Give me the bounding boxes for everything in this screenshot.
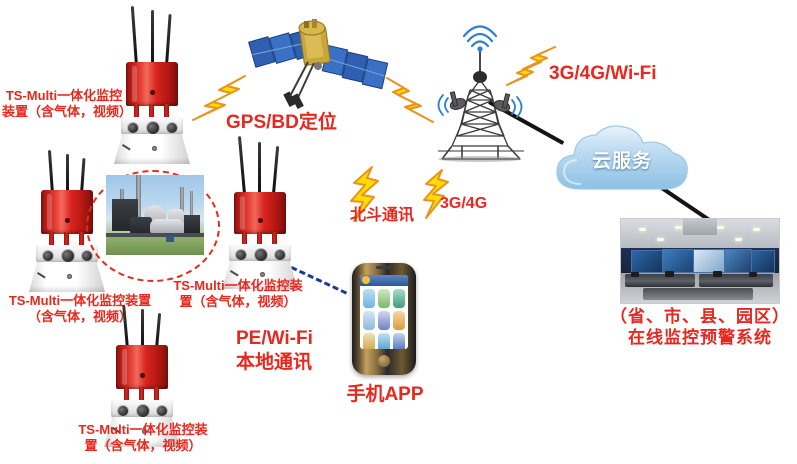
sensor-port	[61, 249, 75, 263]
sensor-port	[42, 250, 54, 262]
operator-desk	[643, 288, 753, 300]
device-indicator	[67, 274, 72, 279]
app-icon[interactable]	[393, 333, 405, 349]
phone-app-logo	[362, 276, 370, 284]
antenna	[66, 154, 69, 194]
antenna	[151, 10, 154, 66]
video-wall-panel	[631, 250, 663, 273]
app-icon[interactable]	[378, 333, 390, 349]
device-indicator	[152, 146, 157, 151]
video-wall-panel	[751, 250, 775, 273]
sensor-port	[156, 405, 168, 417]
sensor-port	[136, 404, 150, 418]
antenna	[48, 150, 54, 194]
handheld-terminal-icon[interactable]	[352, 263, 416, 375]
label-gps-bd: GPS/BD定位	[226, 111, 356, 135]
app-icon[interactable]	[393, 289, 405, 308]
sensor-port	[146, 121, 160, 135]
device-body	[234, 192, 286, 234]
app-icon[interactable]	[378, 289, 390, 308]
desk-monitor	[713, 271, 722, 277]
sensor-port	[127, 122, 139, 134]
device-indicator	[65, 218, 70, 223]
desk-monitor	[665, 271, 674, 277]
label-beidou: 北斗通讯	[350, 206, 440, 226]
device-body	[126, 62, 178, 106]
device-indicator	[150, 90, 155, 95]
room-soffit	[683, 219, 717, 235]
sensor-port	[274, 249, 286, 261]
sensor-port	[235, 249, 247, 261]
antenna	[80, 158, 86, 194]
device-indicator	[140, 373, 145, 378]
app-icon[interactable]	[363, 311, 375, 330]
app-icon[interactable]	[363, 289, 375, 308]
app-icon[interactable]	[393, 311, 405, 330]
lightning-satellite-to-tower	[381, 76, 441, 124]
antenna	[155, 313, 161, 349]
sensor-port	[117, 405, 129, 417]
industrial-plant-photo	[106, 175, 204, 255]
desk-monitor	[631, 272, 639, 277]
video-wall-panel	[724, 249, 752, 273]
cell-tower-icon	[428, 18, 533, 163]
sensor-port	[254, 248, 268, 262]
device-body	[116, 345, 168, 389]
monitoring-device-mid[interactable]	[218, 136, 306, 286]
antenna	[131, 6, 138, 66]
diagram-canvas: 云服务	[0, 0, 797, 464]
antenna	[272, 146, 279, 194]
monitoring-device-top[interactable]	[108, 4, 196, 164]
operator-desk	[699, 274, 773, 287]
app-icon[interactable]	[378, 311, 390, 330]
sensor-port	[166, 122, 178, 134]
antenna	[258, 142, 261, 194]
antenna	[141, 309, 144, 349]
control-room-photo	[620, 218, 780, 304]
phone-screen[interactable]	[360, 275, 408, 349]
cloud-service-icon[interactable]: 云服务	[551, 121, 693, 197]
phone-home-button[interactable]	[378, 355, 390, 367]
label-device-top: TS-Multi一体化监控 装置（含气体，视频）	[2, 88, 126, 121]
label-device-bottom: TS-Multi一体化监控装 置（含气体，视频）	[68, 422, 218, 455]
video-wall-panel	[662, 249, 694, 273]
label-3g4g-wifi: 3G/4G/Wi-Fi	[549, 62, 709, 86]
label-control-room: （省、市、县、园区） 在线监控预警系统	[608, 306, 792, 349]
cloud-label: 云服务	[551, 146, 693, 173]
antenna	[165, 14, 172, 66]
label-3g4g: 3G/4G	[440, 194, 510, 214]
device-indicator	[260, 272, 265, 277]
label-local-comm: PE/Wi-Fi 本地通讯	[236, 327, 356, 375]
antenna	[238, 136, 246, 194]
phone-speaker	[376, 266, 392, 269]
phone-app-grid[interactable]	[363, 289, 405, 346]
antenna	[122, 305, 129, 349]
device-indicator	[258, 218, 263, 223]
video-wall-panel	[693, 249, 725, 273]
desk-monitor	[749, 272, 757, 277]
app-icon[interactable]	[363, 333, 375, 349]
sensor-port	[81, 250, 93, 262]
label-phone-app: 手机APP	[335, 383, 435, 407]
